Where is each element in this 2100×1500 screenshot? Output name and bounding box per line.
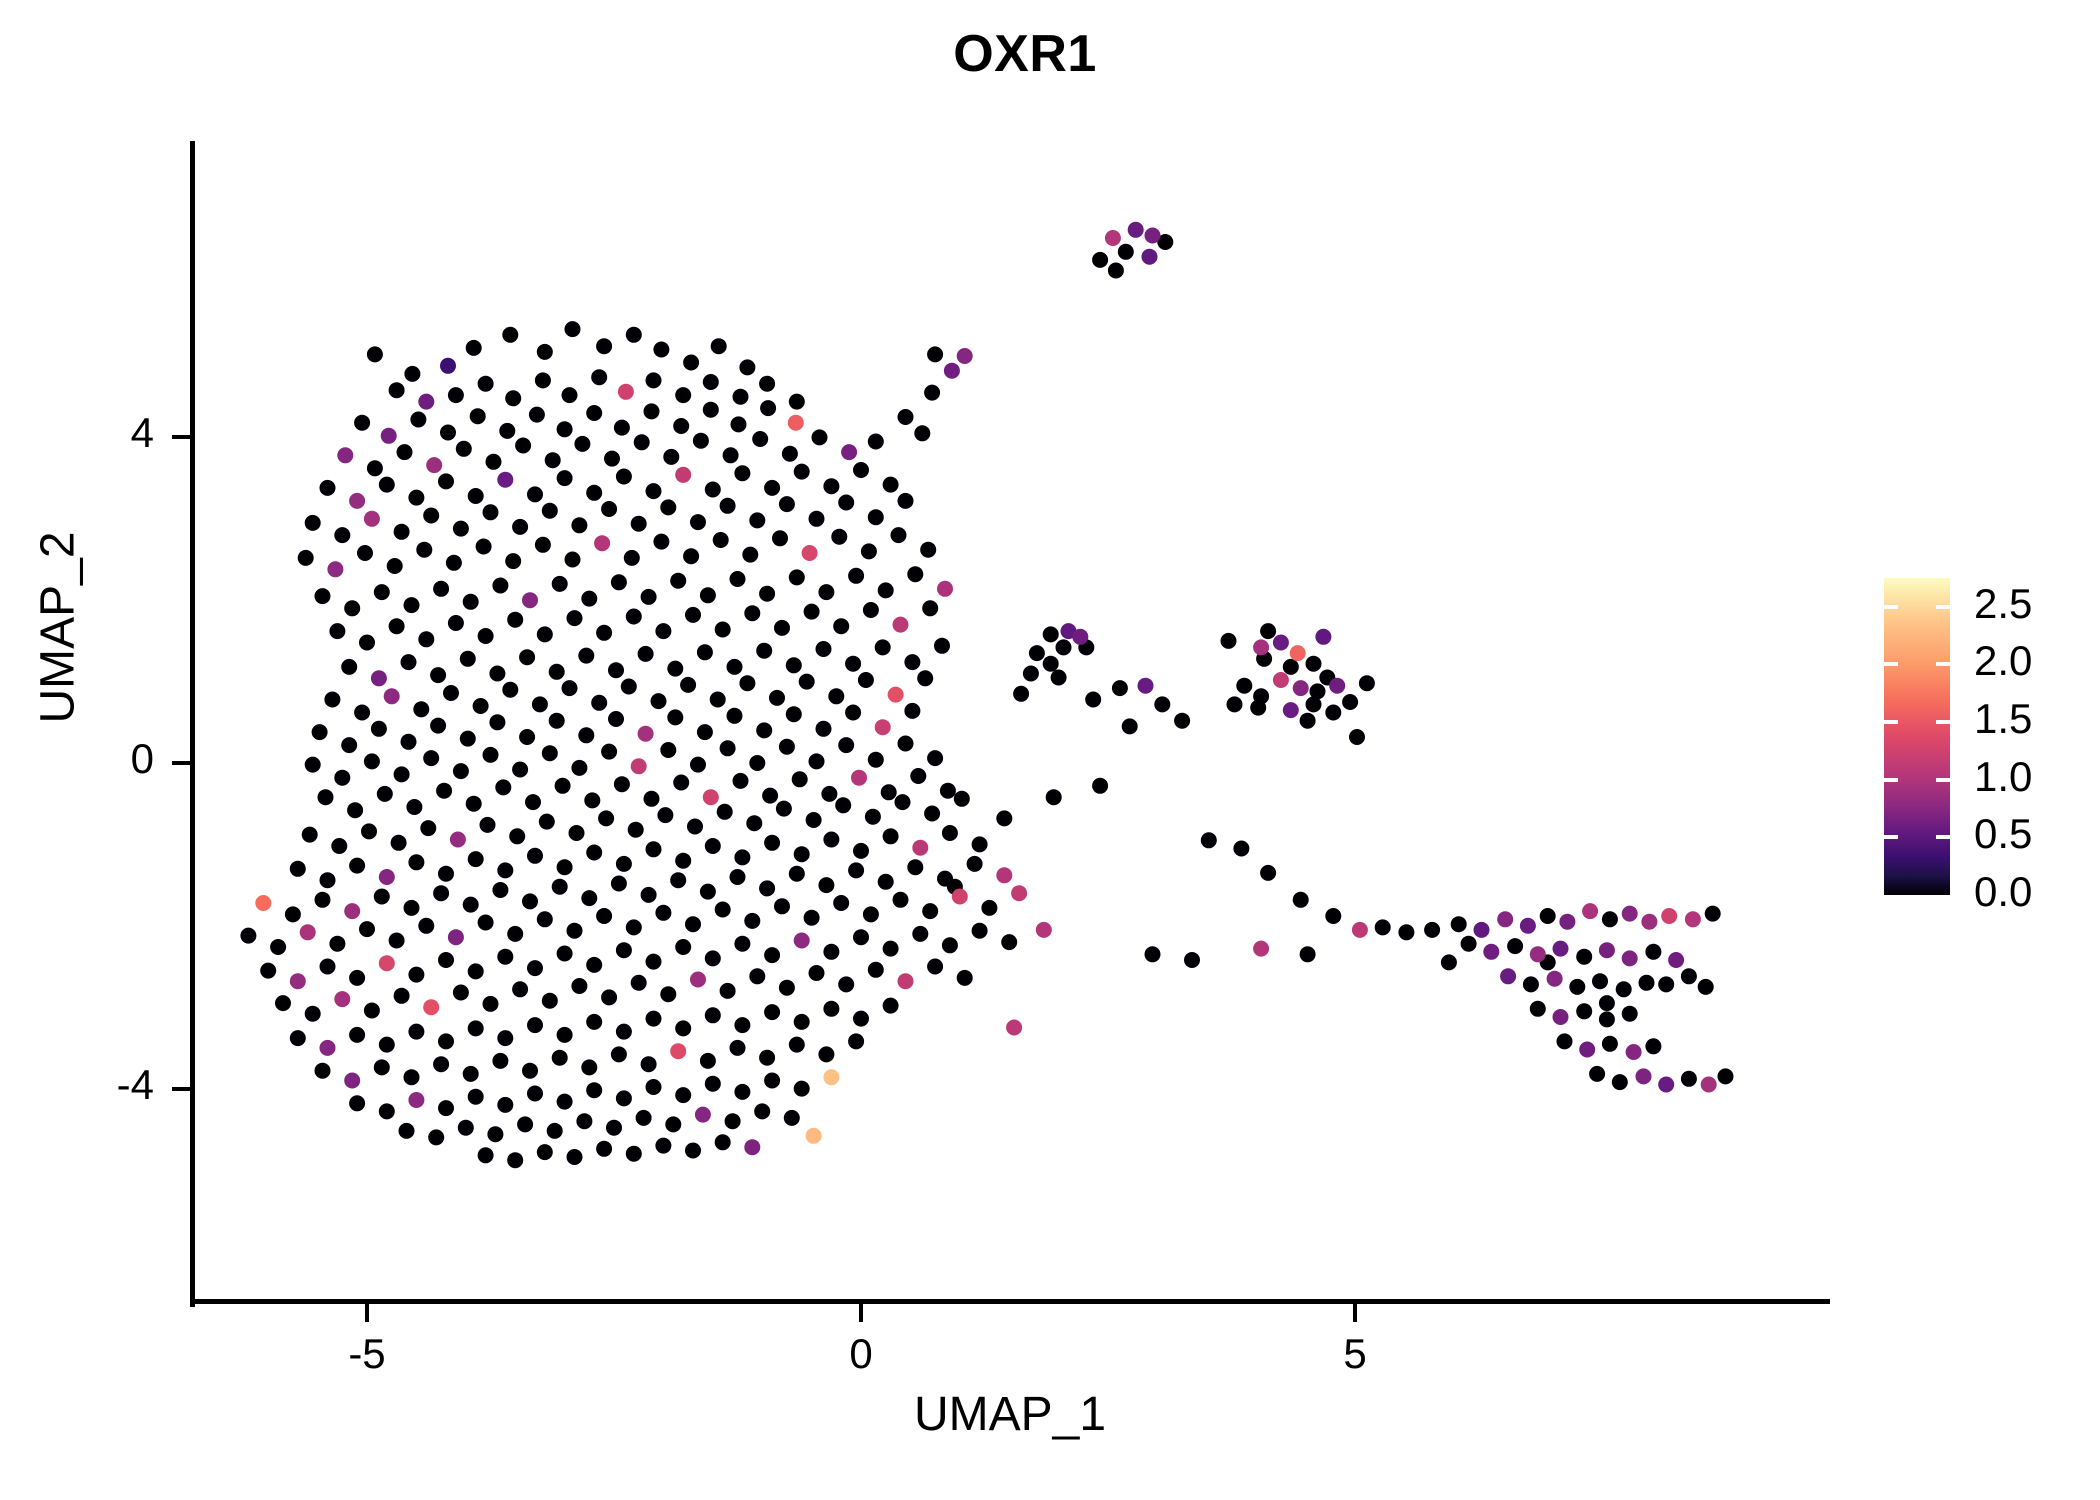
scatter-point xyxy=(695,1107,711,1123)
scatter-point xyxy=(782,446,798,462)
scatter-point xyxy=(1398,924,1414,940)
scatter-point xyxy=(922,600,938,616)
scatter-point xyxy=(710,692,726,708)
scatter-points-layer xyxy=(0,0,2100,1500)
scatter-point xyxy=(574,436,590,452)
scatter-point xyxy=(489,666,505,682)
scatter-point xyxy=(401,654,417,670)
color-legend[interactable]: 2.52.01.51.00.50.0 xyxy=(1884,578,2074,908)
scatter-point xyxy=(774,898,790,914)
scatter-point xyxy=(438,1100,454,1116)
scatter-point xyxy=(789,866,805,882)
scatter-point xyxy=(349,1027,365,1043)
scatter-point xyxy=(334,991,350,1007)
scatter-point xyxy=(893,617,909,633)
scatter-point xyxy=(1290,645,1306,661)
scatter-point xyxy=(483,996,499,1012)
scatter-point xyxy=(878,874,894,890)
scatter-point xyxy=(1540,954,1556,970)
scatter-point xyxy=(611,876,627,892)
scatter-point xyxy=(418,394,434,410)
scatter-point xyxy=(927,959,943,975)
scatter-point xyxy=(700,587,716,603)
scatter-point xyxy=(772,530,788,546)
scatter-point xyxy=(527,1017,543,1033)
scatter-point xyxy=(638,726,654,742)
scatter-point xyxy=(374,1059,390,1075)
scatter-point xyxy=(1056,639,1072,655)
scatter-point xyxy=(624,550,640,566)
scatter-point xyxy=(1072,629,1088,645)
colorbar-tick-label: 0.0 xyxy=(1974,868,2032,916)
scatter-point xyxy=(838,737,854,753)
scatter-point xyxy=(586,1082,602,1098)
scatter-point xyxy=(1329,678,1345,694)
scatter-point xyxy=(954,791,970,807)
scatter-point xyxy=(912,840,928,856)
colorbar-tick xyxy=(1936,720,1950,724)
scatter-point xyxy=(460,731,476,747)
scatter-point xyxy=(670,872,686,888)
scatter-point xyxy=(739,359,755,375)
scatter-point xyxy=(440,358,456,374)
scatter-point xyxy=(584,792,600,808)
scatter-point xyxy=(290,973,306,989)
scatter-point xyxy=(816,721,832,737)
y-axis-line xyxy=(190,141,195,1307)
scatter-point xyxy=(549,713,565,729)
scatter-point xyxy=(665,1116,681,1132)
scatter-point xyxy=(744,1139,760,1155)
y-axis-title: UMAP_2 xyxy=(31,428,86,828)
scatter-point xyxy=(557,421,573,437)
scatter-point xyxy=(379,869,395,885)
scatter-point xyxy=(349,1095,365,1111)
scatter-point xyxy=(816,641,832,657)
scatter-point xyxy=(713,532,729,548)
scatter-point xyxy=(883,828,899,844)
scatter-point xyxy=(1658,976,1674,992)
scatter-point xyxy=(1352,922,1368,938)
scatter-point xyxy=(433,581,449,597)
scatter-point xyxy=(404,366,420,382)
scatter-point xyxy=(927,346,943,362)
scatter-point xyxy=(685,607,701,623)
scatter-point xyxy=(1569,979,1585,995)
scatter-point xyxy=(359,921,375,937)
scatter-point xyxy=(663,449,679,465)
scatter-point xyxy=(646,841,662,857)
scatter-point xyxy=(1520,918,1536,934)
scatter-point xyxy=(868,434,884,450)
scatter-point xyxy=(717,804,733,820)
scatter-point xyxy=(334,770,350,786)
scatter-point xyxy=(789,569,805,585)
scatter-point xyxy=(818,1046,834,1062)
scatter-point xyxy=(470,408,486,424)
scatter-point xyxy=(361,823,377,839)
scatter-point xyxy=(1602,1036,1618,1052)
scatter-point xyxy=(1233,841,1249,857)
scatter-point xyxy=(453,763,469,779)
scatter-point xyxy=(806,812,822,828)
scatter-point xyxy=(418,631,434,647)
scatter-point xyxy=(934,638,950,654)
scatter-point xyxy=(734,936,750,952)
scatter-point xyxy=(841,444,857,460)
scatter-point xyxy=(1483,944,1499,960)
scatter-point xyxy=(468,963,484,979)
scatter-point xyxy=(1174,713,1190,729)
scatter-point xyxy=(1293,892,1309,908)
scatter-point xyxy=(344,903,360,919)
scatter-point xyxy=(483,504,499,520)
scatter-point xyxy=(302,827,318,843)
scatter-point xyxy=(806,1128,822,1144)
scatter-point xyxy=(537,344,553,360)
scatter-point xyxy=(1661,908,1677,924)
scatter-point xyxy=(942,937,958,953)
scatter-point xyxy=(680,677,696,693)
scatter-point xyxy=(1122,718,1138,734)
scatter-point xyxy=(285,906,301,922)
scatter-point xyxy=(898,736,914,752)
scatter-point xyxy=(1046,789,1062,805)
scatter-point xyxy=(453,985,469,1001)
scatter-point xyxy=(542,503,558,519)
scatter-point xyxy=(700,884,716,900)
scatter-point xyxy=(458,1120,474,1136)
scatter-point xyxy=(655,1138,671,1154)
scatter-point xyxy=(1085,692,1101,708)
scatter-point xyxy=(1029,645,1045,661)
scatter-point xyxy=(359,635,375,651)
scatter-point xyxy=(347,802,363,818)
colorbar-gradient xyxy=(1884,578,1950,895)
scatter-point xyxy=(547,1123,563,1139)
x-axis-line xyxy=(190,1299,1830,1304)
scatter-point xyxy=(555,778,571,794)
scatter-point xyxy=(446,555,462,571)
scatter-point xyxy=(690,514,706,530)
scatter-point xyxy=(591,695,607,711)
scatter-point xyxy=(888,687,904,703)
scatter-point xyxy=(401,734,417,750)
scatter-point xyxy=(1221,633,1237,649)
colorbar-tick xyxy=(1884,720,1898,724)
scatter-point xyxy=(705,1076,721,1092)
scatter-point xyxy=(379,1103,395,1119)
scatter-point xyxy=(673,775,689,791)
scatter-point xyxy=(377,786,393,802)
scatter-point xyxy=(898,493,914,509)
scatter-point xyxy=(616,469,632,485)
scatter-point xyxy=(1553,1009,1569,1025)
scatter-point xyxy=(408,490,424,506)
scatter-point xyxy=(1319,670,1335,686)
scatter-point xyxy=(483,747,499,763)
scatter-point xyxy=(660,499,676,515)
scatter-point xyxy=(759,880,775,896)
scatter-point xyxy=(703,789,719,805)
scatter-point xyxy=(453,521,469,537)
scatter-point xyxy=(1310,683,1326,699)
scatter-point xyxy=(329,936,345,952)
scatter-point xyxy=(646,954,662,970)
scatter-point xyxy=(618,384,634,400)
scatter-point xyxy=(727,659,743,675)
scatter-point xyxy=(1622,950,1638,966)
scatter-point xyxy=(660,986,676,1002)
scatter-point xyxy=(596,1141,612,1157)
scatter-point xyxy=(1036,922,1052,938)
scatter-point xyxy=(598,810,614,826)
scatter-point xyxy=(1622,906,1638,922)
scatter-point xyxy=(734,849,750,865)
scatter-point xyxy=(527,960,543,976)
scatter-point xyxy=(371,721,387,737)
scatter-point xyxy=(616,942,632,958)
scatter-point xyxy=(596,338,612,354)
scatter-point xyxy=(924,385,940,401)
scatter-point xyxy=(853,462,869,478)
scatter-point xyxy=(535,372,551,388)
scatter-point xyxy=(298,550,314,566)
scatter-point xyxy=(646,1011,662,1027)
scatter-point xyxy=(823,478,839,494)
scatter-point xyxy=(752,431,768,447)
scatter-point xyxy=(865,809,881,825)
scatter-point xyxy=(784,1110,800,1126)
scatter-point xyxy=(895,794,911,810)
scatter-point xyxy=(759,586,775,602)
scatter-point xyxy=(720,740,736,756)
scatter-point xyxy=(769,690,785,706)
scatter-point xyxy=(586,957,602,973)
scatter-point xyxy=(1092,778,1108,794)
scatter-point xyxy=(720,983,736,999)
scatter-point xyxy=(1078,639,1094,655)
scatter-point xyxy=(683,355,699,371)
scatter-point xyxy=(742,547,758,563)
scatter-point xyxy=(463,1066,479,1082)
scatter-point xyxy=(760,400,776,416)
scatter-point xyxy=(413,701,429,717)
scatter-point xyxy=(920,542,936,558)
scatter-point xyxy=(697,724,713,740)
scatter-point xyxy=(596,908,612,924)
scatter-point xyxy=(746,815,762,831)
scatter-point xyxy=(539,814,555,830)
scatter-point xyxy=(502,682,518,698)
scatter-point xyxy=(320,480,336,496)
scatter-point xyxy=(675,939,691,955)
scatter-point xyxy=(626,327,642,343)
scatter-point xyxy=(367,346,383,362)
scatter-point xyxy=(525,794,541,810)
scatter-point xyxy=(626,1146,642,1162)
scatter-point xyxy=(527,1086,543,1102)
scatter-point xyxy=(1112,680,1128,696)
scatter-point xyxy=(967,856,983,872)
scatter-point xyxy=(557,946,573,962)
scatter-point xyxy=(799,674,815,690)
scatter-point xyxy=(408,1024,424,1040)
colorbar-tick xyxy=(1936,778,1950,782)
y-tick-label: -4 xyxy=(34,1061,154,1109)
scatter-point xyxy=(687,819,703,835)
scatter-point xyxy=(532,696,548,712)
scatter-point xyxy=(845,705,861,721)
scatter-point xyxy=(290,1030,306,1046)
scatter-point xyxy=(883,941,899,957)
scatter-point xyxy=(324,692,340,708)
scatter-point xyxy=(509,828,525,844)
scatter-point xyxy=(433,885,449,901)
scatter-point xyxy=(981,900,997,916)
scatter-point xyxy=(1636,1068,1652,1084)
scatter-point xyxy=(838,495,854,511)
scatter-point xyxy=(364,753,380,769)
scatter-point xyxy=(683,548,699,564)
scatter-point xyxy=(957,970,973,986)
scatter-point xyxy=(507,926,523,942)
scatter-point xyxy=(1253,688,1269,704)
scatter-point xyxy=(240,928,256,944)
scatter-point xyxy=(499,423,515,439)
scatter-point xyxy=(628,822,644,838)
scatter-point xyxy=(1250,700,1266,716)
scatter-point xyxy=(502,327,518,343)
scatter-point xyxy=(730,869,746,885)
scatter-point xyxy=(1645,944,1661,960)
scatter-point xyxy=(1273,672,1289,688)
scatter-point xyxy=(379,955,395,971)
scatter-point xyxy=(907,859,923,875)
scatter-point xyxy=(1622,1006,1638,1022)
scatter-point xyxy=(794,846,810,862)
scatter-point xyxy=(823,944,839,960)
scatter-point xyxy=(331,838,347,854)
scatter-point xyxy=(789,1037,805,1053)
scatter-point xyxy=(703,374,719,390)
scatter-point xyxy=(734,1017,750,1033)
scatter-point xyxy=(1612,1074,1628,1090)
scatter-point xyxy=(608,662,624,678)
scatter-point xyxy=(1576,1003,1592,1019)
scatter-point xyxy=(744,605,760,621)
scatter-point xyxy=(515,438,531,454)
scatter-point xyxy=(788,415,804,431)
scatter-point xyxy=(581,591,597,607)
scatter-point xyxy=(1051,670,1067,686)
scatter-point xyxy=(812,429,828,445)
scatter-point xyxy=(657,807,673,823)
scatter-point xyxy=(594,535,610,551)
scatter-point xyxy=(1236,678,1252,694)
scatter-point xyxy=(404,1069,420,1085)
scatter-point xyxy=(703,402,719,418)
scatter-point xyxy=(685,916,701,932)
scatter-point xyxy=(823,1001,839,1017)
scatter-point xyxy=(1681,968,1697,984)
scatter-point xyxy=(957,348,973,364)
scatter-point xyxy=(940,783,956,799)
scatter-point xyxy=(789,394,805,410)
scatter-point xyxy=(394,524,410,540)
scatter-point xyxy=(315,892,331,908)
page-title: OXR1 xyxy=(0,26,2050,83)
scatter-point xyxy=(705,482,721,498)
scatter-point xyxy=(1599,995,1615,1011)
scatter-point xyxy=(898,409,914,425)
scatter-point xyxy=(492,578,508,594)
scatter-point xyxy=(468,1089,484,1105)
scatter-point xyxy=(1108,263,1124,279)
scatter-point xyxy=(1451,916,1467,932)
scatter-point xyxy=(404,597,420,613)
scatter-point xyxy=(644,791,660,807)
scatter-point xyxy=(522,592,538,608)
scatter-point xyxy=(848,568,864,584)
scatter-point xyxy=(1359,675,1375,691)
scatter-point xyxy=(586,1014,602,1030)
scatter-point xyxy=(875,639,891,655)
scatter-point xyxy=(821,786,837,802)
scatter-point xyxy=(562,387,578,403)
scatter-point xyxy=(1253,639,1269,655)
scatter-point xyxy=(601,989,617,1005)
scatter-point xyxy=(1325,908,1341,924)
scatter-point xyxy=(715,622,731,638)
scatter-point xyxy=(1658,1077,1674,1093)
scatter-point xyxy=(423,750,439,766)
scatter-point xyxy=(512,519,528,535)
scatter-point xyxy=(1626,1044,1642,1060)
scatter-point xyxy=(675,1020,691,1036)
scatter-point xyxy=(631,758,647,774)
scatter-point xyxy=(374,584,390,600)
scatter-point xyxy=(562,680,578,696)
scatter-point xyxy=(381,428,397,444)
scatter-point xyxy=(1342,694,1358,710)
scatter-point xyxy=(320,872,336,888)
scatter-point xyxy=(344,1073,360,1089)
scatter-point xyxy=(794,464,810,480)
scatter-point xyxy=(565,552,581,568)
scatter-point xyxy=(486,454,502,470)
scatter-point xyxy=(433,1056,449,1072)
scatter-point xyxy=(762,788,778,804)
scatter-point xyxy=(644,403,660,419)
scatter-point xyxy=(394,766,410,782)
scatter-point xyxy=(1557,1033,1573,1049)
scatter-point xyxy=(542,745,558,761)
scatter-point xyxy=(522,893,538,909)
scatter-point xyxy=(1645,1038,1661,1054)
scatter-point xyxy=(408,1092,424,1108)
scatter-point xyxy=(1006,1020,1022,1036)
scatter-point xyxy=(646,1079,662,1095)
scatter-point xyxy=(1701,1077,1717,1093)
scatter-point xyxy=(794,933,810,949)
scatter-point xyxy=(1023,666,1039,682)
scatter-point xyxy=(497,1030,513,1046)
scatter-point xyxy=(440,425,456,441)
scatter-point xyxy=(675,853,691,869)
scatter-point xyxy=(576,1113,592,1129)
scatter-point xyxy=(420,820,436,836)
